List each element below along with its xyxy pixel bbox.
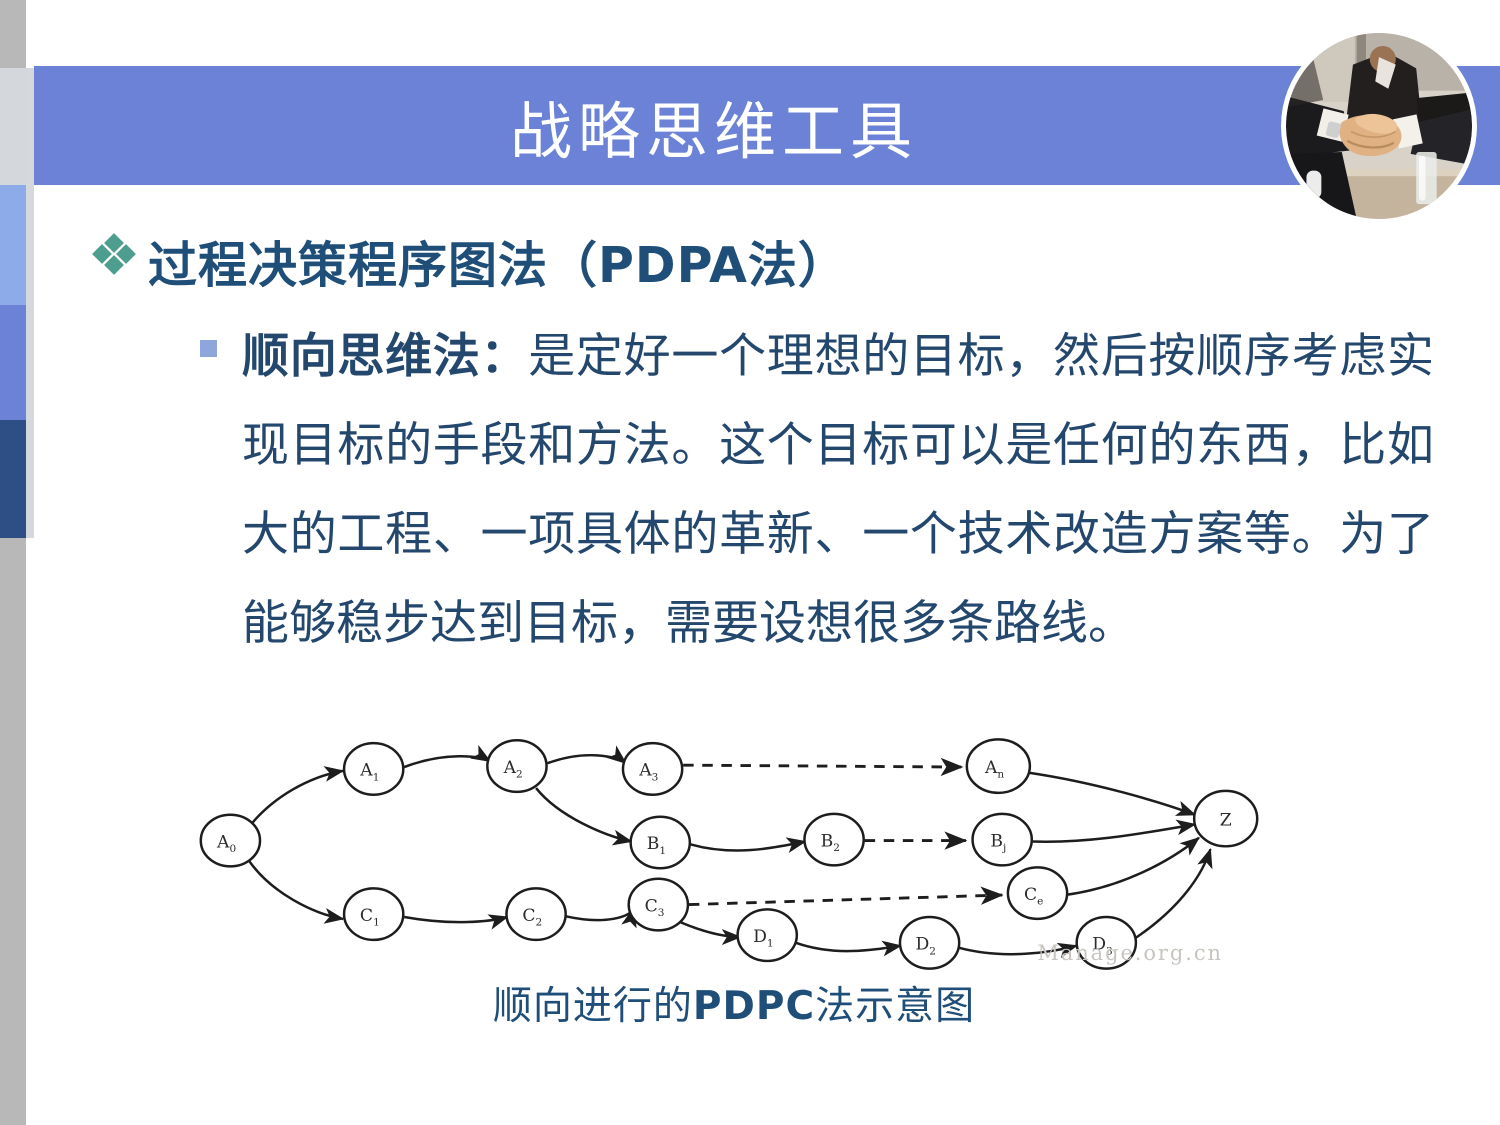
watermark-text: Manage.org.cn [1037,940,1223,965]
left-accent-rail [0,0,26,1125]
rail-segment-gray-bottom [0,538,26,1125]
caption-suffix: 法示意图 [815,984,975,1029]
paragraph-block: 顺向思维法：是定好一个理想的目标，然后按顺序考虑实现目标的手段和方法。这个目标可… [192,312,1434,668]
svg-text:Z: Z [1220,810,1232,830]
pdpc-diagram-graphic: A0 A1 A2 A3 An B1 B2 Bj C1 C2 C3 Ce D1 D… [175,710,1283,975]
body-paragraph: 顺向思维法：是定好一个理想的目标，然后按顺序考虑实现目标的手段和方法。这个目标可… [192,312,1434,668]
pdpc-diagram: A0 A1 A2 A3 An B1 B2 Bj C1 C2 C3 Ce D1 D… [175,710,1283,975]
square-bullet-icon [200,340,217,357]
heading-row: 过程决策程序图法（PDPA法） [94,226,848,297]
rail-segment-medium-blue [0,305,26,420]
rail-edge-strip [26,68,34,538]
rail-segment-light-blue [0,185,26,305]
heading-text: 过程决策程序图法（PDPA法） [148,226,848,297]
handshake-photo [1281,28,1477,224]
diamond-bullet-icon [94,238,140,284]
figure-caption: 顺向进行的PDPC法示意图 [34,975,1434,1031]
paragraph-lead: 顺向思维法： [242,329,528,384]
caption-strong: PDPC [693,984,815,1029]
slide: 战略思维工具 [0,0,1500,1125]
page-title: 战略思维工具 [34,66,1394,185]
rail-segment-dark-blue [0,420,26,538]
caption-prefix: 顺向进行的 [493,984,693,1029]
rail-segment-light-gray [0,68,26,185]
handshake-photo-graphic [1286,33,1472,219]
rail-segment-gray-top [0,0,26,68]
